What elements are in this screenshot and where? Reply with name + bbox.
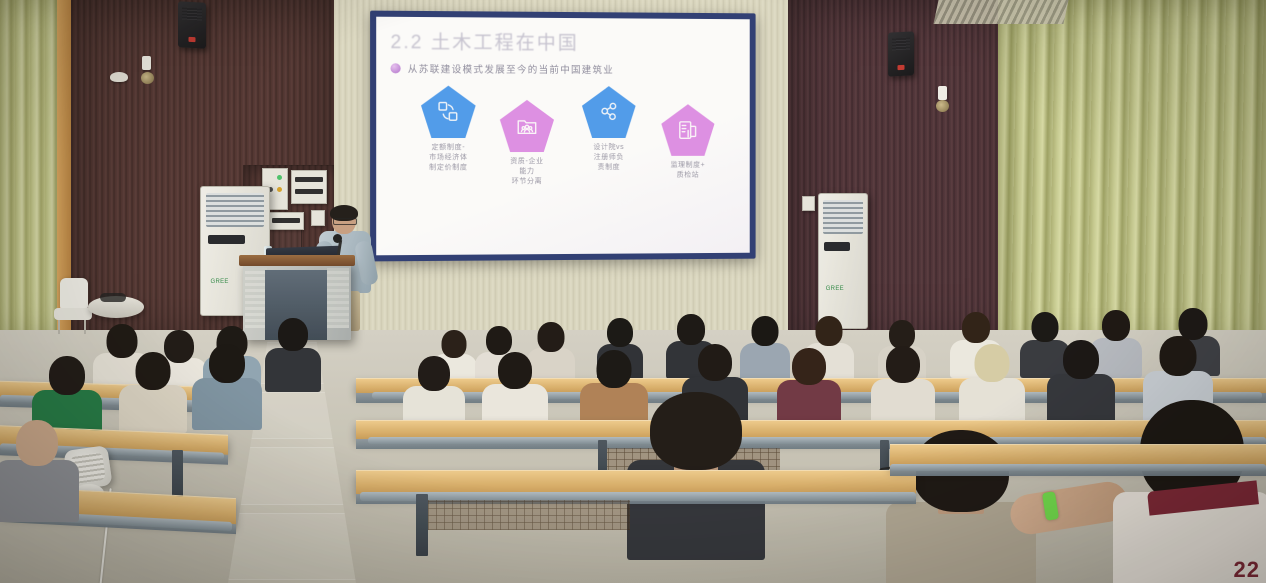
speaker-grille [182, 7, 202, 20]
control-panel-3[interactable] [268, 212, 304, 230]
control-panel-right[interactable] [802, 196, 815, 211]
list-item [0, 420, 74, 512]
student-head [538, 322, 565, 352]
slide-item-2: 资质-企业能力环节分离 [492, 100, 562, 188]
slide-content: 2.2 土木工程在中国 从苏联建设模式发展至今的当前中国建筑业 [376, 17, 750, 256]
white-chair[interactable] [52, 278, 92, 332]
student-head [889, 320, 915, 349]
bullet-dot-icon [390, 63, 400, 73]
jersey-number: 22 [1234, 557, 1260, 583]
student-head [962, 312, 990, 343]
air-conditioner-right[interactable]: GREE [818, 193, 868, 329]
floor-tile [228, 513, 358, 580]
slide-item-4: 监理制度+质检站 [653, 104, 722, 181]
exchange-transfer-icon [437, 101, 459, 123]
microphone-icon[interactable] [333, 234, 342, 243]
network-nodes-icon [598, 101, 620, 123]
panel-bar [295, 189, 323, 194]
control-panel-2[interactable] [291, 170, 327, 204]
speaker-right-icon [888, 31, 914, 76]
ac-display [824, 242, 850, 251]
pentagon-1 [421, 86, 476, 138]
chair-leg [84, 320, 86, 334]
student-head [418, 356, 450, 391]
folder-people-icon [516, 115, 538, 137]
speaker-logo [189, 37, 196, 42]
document-checklist-icon [677, 119, 699, 141]
panel-bar [272, 218, 300, 223]
camera-right-icon [938, 86, 947, 100]
student-head [792, 348, 826, 385]
student-head [209, 344, 245, 383]
student-head [886, 346, 920, 383]
podium-side-right [327, 268, 349, 328]
student-head [698, 344, 732, 381]
student-head [1102, 310, 1130, 341]
glasses-icon [333, 218, 357, 225]
curtain-rail [933, 0, 1068, 24]
slide-pentagon-row: 定额制度-市场经济体制定价制度 资质-企业能力环 [390, 90, 736, 187]
student-head [136, 352, 171, 390]
curtain-right [998, 0, 1266, 352]
list-item [268, 318, 318, 386]
student-body [119, 385, 187, 433]
student-head [16, 420, 58, 466]
camera-right-lens [936, 100, 949, 112]
student-head [486, 326, 512, 355]
student-head [442, 330, 467, 358]
student-body [1047, 374, 1115, 424]
panel-led-amber [277, 187, 282, 192]
chair-leg [58, 320, 60, 334]
pentagon-3 [582, 86, 636, 138]
camera-left-icon [142, 56, 151, 70]
pentagon-2-label: 资质-企业能力环节分离 [492, 157, 562, 188]
speaker-left-icon [178, 1, 206, 48]
slide-item-1: 定额制度-市场经济体制定价制度 [413, 86, 484, 174]
chair-seat [54, 308, 92, 320]
smoke-detector-left-icon [110, 72, 128, 82]
student-head [677, 314, 705, 345]
slide-bullet-row: 从苏联建设模式发展至今的当前中国建筑业 [390, 61, 736, 76]
slide-item-3: 设计院vs注册师负责制度 [574, 86, 644, 173]
podium-side-left [245, 268, 267, 328]
speaker-logo [898, 65, 905, 70]
list-item [640, 392, 752, 532]
pentagon-4-label: 监理制度+质检站 [653, 161, 722, 181]
podium-desktop [239, 255, 355, 266]
student-head [975, 344, 1010, 382]
table-object [100, 293, 126, 302]
pentagon-4 [661, 104, 714, 156]
slide-title: 2.2 土木工程在中国 [390, 27, 736, 56]
list-item [874, 346, 932, 420]
list-item [406, 356, 462, 422]
student-head [597, 350, 632, 388]
ac-vent [823, 200, 863, 234]
student-head [816, 316, 843, 346]
student-body [959, 378, 1025, 426]
ac-brand-label: GREE [826, 286, 844, 292]
student-head [1063, 340, 1099, 379]
student-body [192, 378, 262, 430]
chair-back [60, 278, 88, 312]
list-item [122, 352, 184, 426]
ac-vent [206, 193, 263, 227]
ac-display [208, 235, 245, 244]
list-item [486, 352, 544, 422]
student-head [278, 318, 308, 351]
list-item [584, 350, 644, 422]
student-head [498, 352, 532, 389]
list-item [962, 344, 1022, 420]
student-head [1032, 312, 1059, 342]
panel-led-green [277, 175, 282, 180]
list-item [780, 348, 838, 420]
list-item [1050, 340, 1112, 418]
pentagon-1-label: 定额制度-市场经济体制定价制度 [413, 143, 484, 174]
student-head [650, 392, 742, 470]
slide-subtitle: 从苏联建设模式发展至今的当前中国建筑业 [408, 61, 614, 76]
student-head [607, 318, 633, 347]
ac-brand-label: GREE [211, 279, 229, 285]
lecture-hall-screenshot: GREE GREE 2.2 土木工程在中国 从苏联建设模式发展至今的当前中国建筑… [0, 0, 1266, 583]
desk-row-right-a-bar [890, 464, 1266, 471]
student-head [752, 316, 779, 346]
student-head [1160, 336, 1197, 376]
projection-screen: 2.2 土木工程在中国 从苏联建设模式发展至今的当前中国建筑业 [370, 11, 756, 262]
pentagon-3-label: 设计院vs注册师负责制度 [574, 143, 644, 173]
speaker-grille [892, 38, 910, 51]
list-item [196, 344, 258, 422]
student-body [265, 348, 321, 392]
desk-row-1-basket [420, 500, 630, 530]
student-head [49, 356, 85, 395]
panel-bar [295, 177, 323, 182]
screen-surface: 2.2 土木工程在中国 从苏联建设模式发展至今的当前中国建筑业 [376, 17, 750, 256]
desk-leg [416, 494, 428, 556]
student-body [0, 460, 79, 522]
camera-left-lens [141, 72, 154, 84]
pentagon-2 [500, 100, 554, 152]
